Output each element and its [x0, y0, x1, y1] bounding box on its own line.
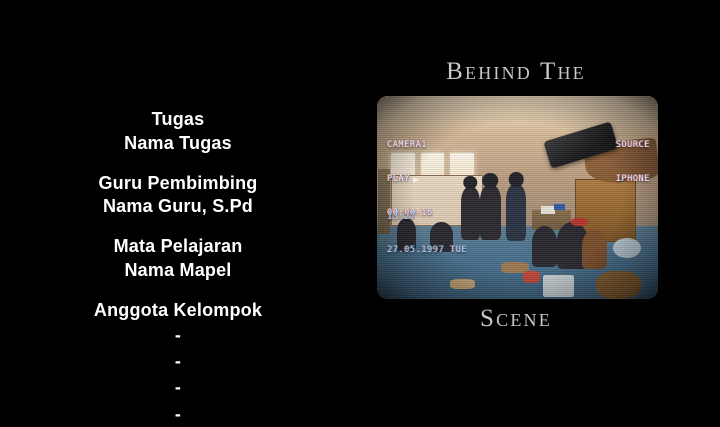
credit-group-mapel: Mata Pelajaran Nama Mapel: [28, 235, 328, 283]
scene-red-garment: [571, 218, 588, 226]
scene-floor-object: [523, 271, 540, 283]
osd-camera-label: CAMERA1: [387, 140, 433, 151]
scene-person-head: [482, 173, 498, 187]
scene-floor-object: [596, 271, 641, 299]
member-placeholder: -: [28, 374, 328, 400]
credits-block: Tugas Nama Tugas Guru Pembimbing Nama Gu…: [28, 108, 328, 427]
scene-floor-object: [543, 275, 574, 297]
scene-seated-person: [532, 226, 557, 267]
scene-person-head: [509, 172, 524, 187]
video-credits-slide: Tugas Nama Tugas Guru Pembimbing Nama Gu…: [0, 0, 720, 405]
credit-heading: Anggota Kelompok: [28, 299, 328, 323]
member-placeholder: -: [28, 322, 328, 348]
scene-seated-person: [582, 230, 607, 269]
credit-group-anggota: Anggota Kelompok - - - -: [28, 299, 328, 427]
osd-transport-label: PLAY: [387, 174, 410, 185]
video-thumbnail[interactable]: CAMERA1 PLAY 00:00:16 SOURCE IPHONE 15:2…: [377, 96, 658, 299]
title-top-line: Behind The: [366, 58, 666, 86]
osd-transport-row: PLAY: [387, 174, 433, 185]
osd-source-value: IPHONE: [616, 174, 650, 185]
osd-clock-time: 15:27: [387, 212, 467, 223]
osd-clock: 15:27 27.05.1997 TUE: [387, 189, 467, 279]
scene-standing-person: [480, 185, 501, 240]
osd-source-label: SOURCE: [616, 140, 650, 151]
play-triangle-icon: [413, 177, 419, 183]
scene-blue-object: [554, 204, 565, 210]
credit-value: Nama Guru, S.Pd: [28, 195, 328, 219]
scene-person-head: [464, 176, 478, 190]
credit-group-guru: Guru Pembimbing Nama Guru, S.Pd: [28, 172, 328, 220]
scene-floor-object: [450, 279, 475, 289]
credit-heading: Mata Pelajaran: [28, 235, 328, 259]
credit-heading: Tugas: [28, 108, 328, 132]
osd-clock-date: 27.05.1997 TUE: [387, 245, 467, 256]
member-placeholder: -: [28, 401, 328, 427]
credit-value: Nama Mapel: [28, 259, 328, 283]
scene-standing-person: [506, 184, 526, 241]
credit-value: Nama Tugas: [28, 132, 328, 156]
osd-source-status: SOURCE IPHONE: [616, 118, 650, 208]
title-bottom-line: Scene: [366, 305, 666, 333]
credit-group-tugas: Tugas Nama Tugas: [28, 108, 328, 156]
member-placeholder: -: [28, 348, 328, 374]
credit-heading: Guru Pembimbing: [28, 172, 328, 196]
